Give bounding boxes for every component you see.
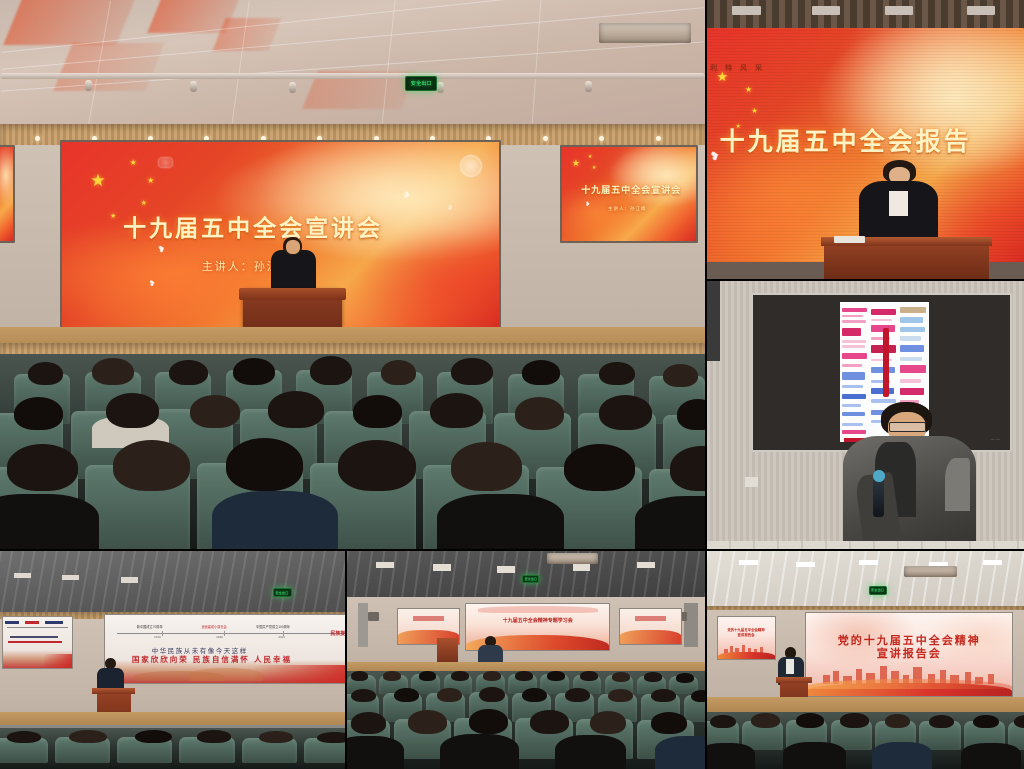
- female-speaker-photo: 利 特 风 采 ★ ★ ★ ★ ❥ 十九届五中全会报告: [707, 0, 1024, 279]
- bl-main-screen: 新中国成立70周年 2019 全面建成小康社会 2020 中国共产党成立100周…: [104, 614, 346, 684]
- air-conditioning-vent: [904, 566, 958, 577]
- flag-star: ★: [147, 177, 154, 185]
- bl-side-screen: [2, 616, 73, 668]
- exit-sign-label: 安全出口: [411, 80, 432, 87]
- br-side-title-1: 党的十九届五中全会精神: [718, 627, 775, 632]
- audience-area: [707, 712, 1024, 769]
- exit-sign-label: 安全出口: [525, 577, 537, 581]
- exit-sign-label: 安全出口: [275, 591, 288, 595]
- wooden-podium: [437, 638, 458, 664]
- flag-star: ★: [751, 108, 757, 115]
- timeline-year-1: 2020: [216, 635, 223, 639]
- dove-icon: ❥: [402, 190, 411, 200]
- panel-divider-horizontal: [0, 549, 1024, 551]
- event-photo-collage: 安全出口 ★ ★ ★ ★ ★ ❥ ❥ ❥: [0, 0, 1024, 769]
- timeline-year-0: 2019: [154, 635, 161, 639]
- flag-star: ★: [141, 200, 147, 207]
- air-conditioning-vent: [599, 23, 691, 43]
- br-side-title-2: 宣讲报告会: [718, 632, 775, 637]
- side-led-screen: ★ ★ ★ ❥ 十九届五中全会宣讲会 主讲人：孙江峰: [560, 145, 698, 242]
- panel-divider-horizontal: [707, 279, 1024, 281]
- flag-star-large: ★: [572, 159, 580, 168]
- glasses-icon: [889, 422, 926, 433]
- timeline-right-label: 民族复兴: [330, 630, 345, 637]
- flag-star: ★: [592, 166, 596, 171]
- br-screen-title-2: 宣讲报告会: [806, 645, 1012, 661]
- flag-star: ★: [588, 155, 592, 160]
- dove-icon: ❥: [585, 202, 590, 208]
- ceiling: 安全出口: [0, 0, 705, 126]
- side-screen-title: 十九届五中全会宣讲会: [581, 183, 681, 196]
- exit-sign: 安全出口: [405, 76, 437, 91]
- main-auditorium-photo: 安全出口 ★ ★ ★ ★ ★ ❥ ❥ ❥: [0, 0, 705, 549]
- timeline-axis: [117, 633, 345, 634]
- timeline-slide-lecture-photo: 安全出口 新中国成立70周年 2019 全面建成小康社会 2020 中国共产党成…: [0, 551, 345, 769]
- audience-area: [0, 728, 345, 769]
- br-side-screen: 党的十九届五中全会精神 宣讲报告会: [717, 616, 776, 659]
- exit-sign: 安全出口: [869, 586, 887, 595]
- flag-star-large: ★: [90, 172, 105, 189]
- br-main-screen: 党的十九届五中全会精神 宣讲报告会: [805, 612, 1013, 697]
- timeline-label-1: 全面建成小康社会: [201, 624, 227, 629]
- exit-sign: 安全出口: [522, 575, 539, 583]
- tr-screen-title: 十九届五中全会报告: [720, 122, 972, 158]
- bm-side-screen-right: [619, 608, 682, 645]
- flag-star: ★: [130, 159, 137, 167]
- flag-star: ★: [745, 86, 752, 94]
- audience-back-view-photo: 安全出口 十九届五中全会精神专题学习会: [347, 551, 705, 769]
- timeline-label-2: 中国共产党成立100周年: [256, 624, 290, 629]
- exit-sign: 安全出口: [273, 588, 292, 597]
- exit-sign-label: 安全出口: [871, 588, 884, 592]
- flag-star-large: ★: [717, 70, 729, 83]
- male-speaker-microphone-photo: — —: [707, 281, 1024, 549]
- air-conditioning-vent: [547, 553, 597, 564]
- flag-star: ★: [110, 213, 116, 220]
- report-meeting-photo: 安全出口 党的十九届五中全会精神 宣讲报告会: [707, 551, 1024, 769]
- audience-area: [347, 671, 705, 769]
- wooden-podium: [824, 237, 989, 279]
- side-screen-subtitle: 主讲人：孙江峰: [608, 206, 647, 212]
- left-edge-led-screen: [0, 145, 15, 242]
- seal-emblem-icon: [158, 157, 173, 168]
- timeline-year-2: 2021: [278, 635, 285, 639]
- main-screen-title: 十九届五中全会宣讲会: [123, 209, 383, 243]
- panel-divider-vertical: [705, 0, 707, 549]
- timeline-label-0: 新中国成立70周年: [137, 624, 163, 629]
- seal-emblem-icon: [460, 155, 482, 177]
- panel-divider-vertical: [705, 551, 707, 769]
- bm-screen-title: 十九届五中全会精神专题学习会: [478, 617, 598, 624]
- audience-area: [0, 354, 705, 549]
- panel-divider-vertical: [345, 551, 347, 769]
